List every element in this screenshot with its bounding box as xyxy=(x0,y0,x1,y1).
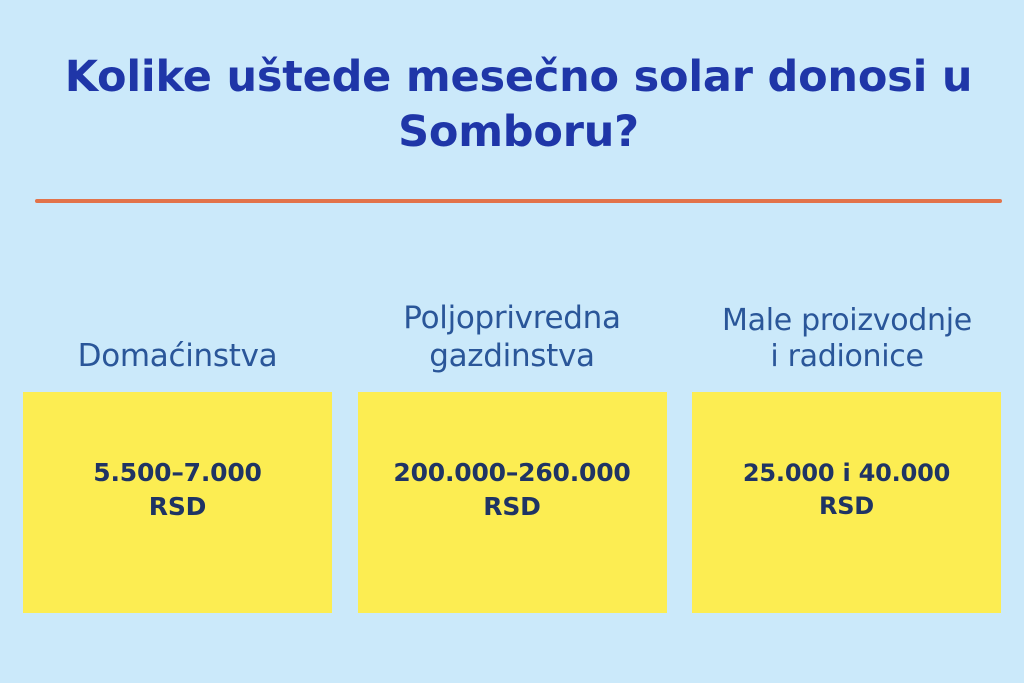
column-header-male-proizvodnje-i-radionice: Male proizvodnje i radionice xyxy=(682,303,1012,376)
value-text-male-proizvodnje-i-radionice: 25.000 i 40.000 RSD xyxy=(743,457,950,522)
value-card-poljoprivredna-gazdinstva: 200.000–260.000 RSD xyxy=(358,392,667,613)
value-card-male-proizvodnje-i-radionice: 25.000 i 40.000 RSD xyxy=(692,392,1001,613)
column-domacinstva: Domaćinstva 5.500–7.000 RSD xyxy=(23,250,332,613)
column-header-domacinstva: Domaćinstva xyxy=(23,338,332,376)
value-card-domacinstva: 5.500–7.000 RSD xyxy=(23,392,332,613)
columns-container: Domaćinstva 5.500–7.000 RSD Poljoprivred… xyxy=(23,250,1001,613)
infographic-canvas: Kolike uštede mesečno solar donosi u Som… xyxy=(0,0,1024,683)
column-male-proizvodnje-i-radionice: Male proizvodnje i radionice 25.000 i 40… xyxy=(692,250,1001,613)
page-title: Kolike uštede mesečno solar donosi u Som… xyxy=(35,50,1002,160)
column-header-poljoprivredna-gazdinstva: Poljoprivredna gazdinstva xyxy=(358,300,667,376)
value-text-poljoprivredna-gazdinstva: 200.000–260.000 RSD xyxy=(393,456,630,524)
column-poljoprivredna-gazdinstva: Poljoprivredna gazdinstva 200.000–260.00… xyxy=(358,250,667,613)
value-text-domacinstva: 5.500–7.000 RSD xyxy=(93,456,261,524)
title-block: Kolike uštede mesečno solar donosi u Som… xyxy=(35,50,1002,160)
title-divider xyxy=(35,199,1002,203)
